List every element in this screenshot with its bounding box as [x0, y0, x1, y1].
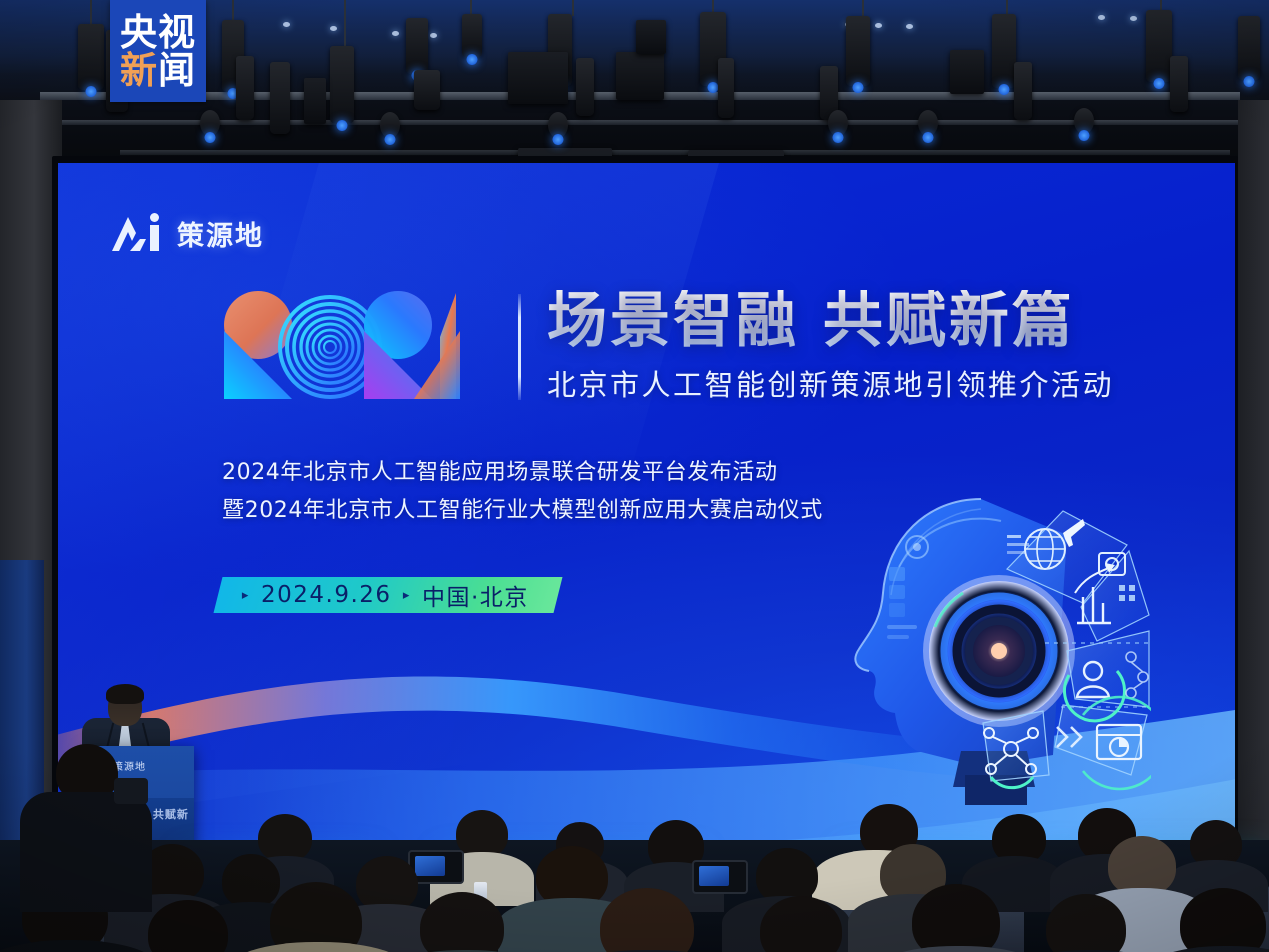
watermark-char-xin: 新 — [120, 49, 158, 92]
ai-mark-icon — [106, 211, 166, 255]
line-array-speaker — [508, 52, 568, 104]
attendee-head — [912, 884, 1000, 952]
truss-beam-lower — [120, 150, 1230, 155]
stage-light-fixture — [1170, 56, 1188, 112]
ceiling-light — [1130, 16, 1137, 21]
watermark-line-2: 新闻 — [120, 52, 196, 89]
arrow-icon: ▸ — [242, 588, 250, 603]
watermark-char-wen: 闻 — [158, 49, 196, 92]
attendee-head — [456, 810, 508, 858]
photographer-body — [20, 792, 152, 912]
separator-arrow-icon: ▸ — [403, 588, 411, 603]
stage-light-fixture — [1014, 62, 1032, 120]
line-array-speaker — [304, 78, 326, 124]
year-2024-logo — [208, 285, 496, 409]
smartphone-recording — [692, 860, 748, 894]
stage-light-fixture — [846, 16, 870, 86]
camera-device — [114, 778, 148, 804]
event-title-sub: 北京市人工智能创新策源地引领推介活动 — [547, 362, 1114, 404]
stage-light-fixture — [1146, 10, 1172, 82]
line-array-speaker — [950, 50, 984, 94]
stage-light-fixture — [406, 18, 428, 74]
line-array-speaker — [636, 20, 666, 54]
event-description: 2024年北京市人工智能应用场景联合研发平台发布活动 暨2024年北京市人工智能… — [222, 454, 823, 530]
cctv-news-watermark: 央视 新闻 — [110, 0, 206, 102]
attendee-head — [258, 814, 312, 862]
speaker-hair — [106, 684, 144, 704]
attendee-head — [1108, 836, 1176, 896]
stage-light-fixture — [330, 46, 354, 124]
attendee-head — [222, 854, 280, 908]
stage-light-fixture — [236, 56, 254, 120]
title-group: 场景智融 共赋新篇 北京市人工智能创新策源地引领推介活动 — [547, 290, 1114, 404]
ceiling-light — [875, 23, 882, 28]
event-location: 中国·北京 — [422, 578, 529, 612]
rigging-wire — [572, 0, 574, 16]
audience-area — [0, 770, 1269, 952]
date-location-banner: ▸ 2024.9.26 ▸ 中国·北京 — [214, 577, 563, 613]
conference-hall-photo: 策源地 — [0, 0, 1269, 952]
stage-light-fixture — [718, 58, 734, 118]
event-title-main: 场景智融 共赋新篇 — [547, 290, 1114, 354]
led-presentation-screen: 策源地 — [58, 163, 1235, 845]
moving-head-light — [548, 112, 568, 138]
title-divider — [518, 294, 521, 400]
truss-beam-middle — [40, 120, 1240, 125]
line-array-speaker — [616, 52, 664, 100]
stage-light-fixture — [414, 70, 440, 110]
stage-light-fixture — [270, 62, 290, 134]
moving-head-light — [1074, 108, 1094, 134]
moving-head-light — [200, 110, 220, 136]
stage-light-fixture — [576, 58, 594, 116]
moving-head-light — [918, 110, 938, 136]
stage-light-fixture — [1238, 16, 1260, 80]
ceiling-light — [392, 31, 399, 36]
moving-head-light — [828, 110, 848, 136]
watermark-line-1: 央视 — [120, 14, 196, 51]
ai-robot-head-graphic — [831, 475, 1151, 805]
ai-brand-logo: 策源地 — [106, 211, 264, 255]
description-line-2: 暨2024年北京市人工智能行业大模型创新应用大赛启动仪式 — [222, 492, 823, 530]
hero-block: 场景智融 共赋新篇 北京市人工智能创新策源地引领推介活动 — [208, 285, 1114, 409]
event-date: 2024.9.26 — [261, 582, 392, 608]
moving-head-light — [380, 112, 400, 138]
rigging-wire — [344, 0, 346, 52]
stage-light-fixture — [78, 24, 104, 90]
ceiling-light — [283, 22, 290, 27]
description-line-1: 2024年北京市人工智能应用场景联合研发平台发布活动 — [222, 454, 823, 492]
ai-brand-name: 策源地 — [177, 214, 264, 253]
stage-light-fixture — [462, 14, 482, 58]
attendee-head — [1180, 888, 1266, 952]
ceiling-light — [906, 24, 913, 29]
ceiling-light — [430, 33, 437, 38]
stage-light-fixture — [992, 14, 1016, 88]
ceiling-light — [1098, 15, 1105, 20]
ceiling-light — [330, 26, 337, 31]
